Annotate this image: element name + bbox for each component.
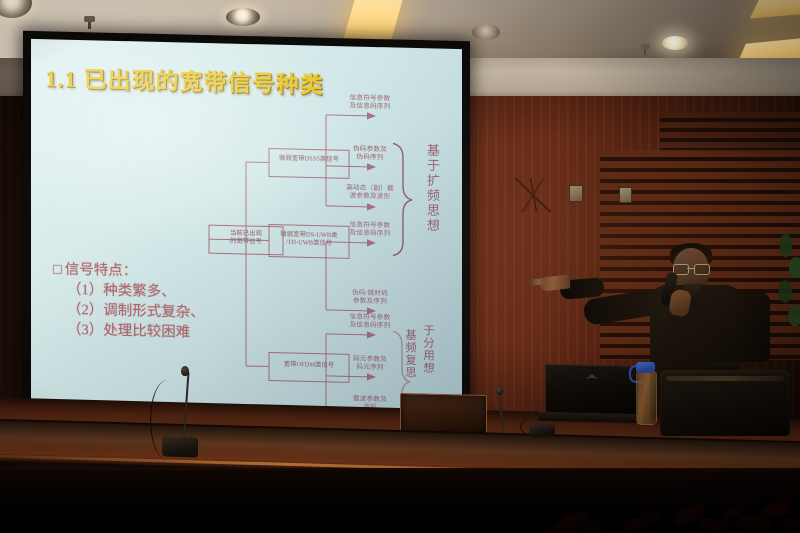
diagram-output-label: 信息符号参数及信息码序列 <box>331 313 409 332</box>
diagram-output-label: 伪码/跳时码参数及序列 <box>331 289 409 308</box>
slide-bullet-list: 信号特点： （1）种类繁多、 （2）调制形式复杂、 （3）处理比较困难 <box>53 259 205 343</box>
lecture-hall-scene: 1.1 已出现的宽带信号种类 <box>0 0 800 533</box>
water-bottle <box>636 371 657 425</box>
diagram-brace-label-spread-spectrum: 基于扩频思想 <box>424 143 440 233</box>
dried-twig-decor <box>512 178 556 212</box>
laptop-screen[interactable] <box>545 364 639 418</box>
slide-title: 1.1 已出现的宽带信号种类 <box>45 59 324 100</box>
diagram-root-label: 当前已出现的宽带信号 <box>211 229 281 247</box>
sprinkler-head <box>641 44 650 49</box>
flower-petal <box>776 514 800 533</box>
diagram-category-ofdm: 宽带OFDM类信号 <box>271 361 347 371</box>
wall-plate <box>619 187 632 203</box>
diagram-output-label: 码元参数及码元序列 <box>331 355 409 374</box>
potted-plant <box>778 230 800 340</box>
poinsettia-flowers <box>545 494 800 533</box>
projection-screen-frame: 1.1 已出现的宽带信号种类 <box>23 31 470 436</box>
diagram-output-label: 信息符号参数及信息码序列 <box>331 94 409 113</box>
bullet-item: （3）处理比较困难 <box>53 319 205 343</box>
diagram-output-label: 伪码参数及伪码序列 <box>331 145 409 164</box>
microphone-capsule <box>181 366 189 376</box>
diagram-output-label: 信息符号参数及信息码序列 <box>331 221 409 240</box>
microphone-capsule <box>496 386 503 395</box>
laptop-bag-trim <box>666 376 784 381</box>
diagram-brace-label-fdm-col1: 基频复思 <box>403 329 416 379</box>
diagram-category-uwb: 微弱宽带DS-UWB类/TH-UWB类信号 <box>271 231 347 249</box>
wall-plate <box>569 185 583 202</box>
laptop-logo-icon <box>586 374 598 379</box>
diagram-category-dsss: 微弱宽带DSSS类信号 <box>271 155 347 165</box>
wall-plate <box>618 186 620 188</box>
diagram-brace-label-fdm-col2: 于分用想 <box>421 324 434 374</box>
sprinkler-head <box>84 16 95 22</box>
recessed-downlight <box>226 8 260 26</box>
recessed-downlight <box>472 24 500 40</box>
projection-screen: 1.1 已出现的宽带信号种类 <box>31 39 462 425</box>
cable <box>150 380 185 460</box>
bottle-cap <box>636 362 655 373</box>
recessed-downlight <box>662 36 688 50</box>
diagram-output-label: 高动态（副）载波参数及波形 <box>329 184 411 203</box>
